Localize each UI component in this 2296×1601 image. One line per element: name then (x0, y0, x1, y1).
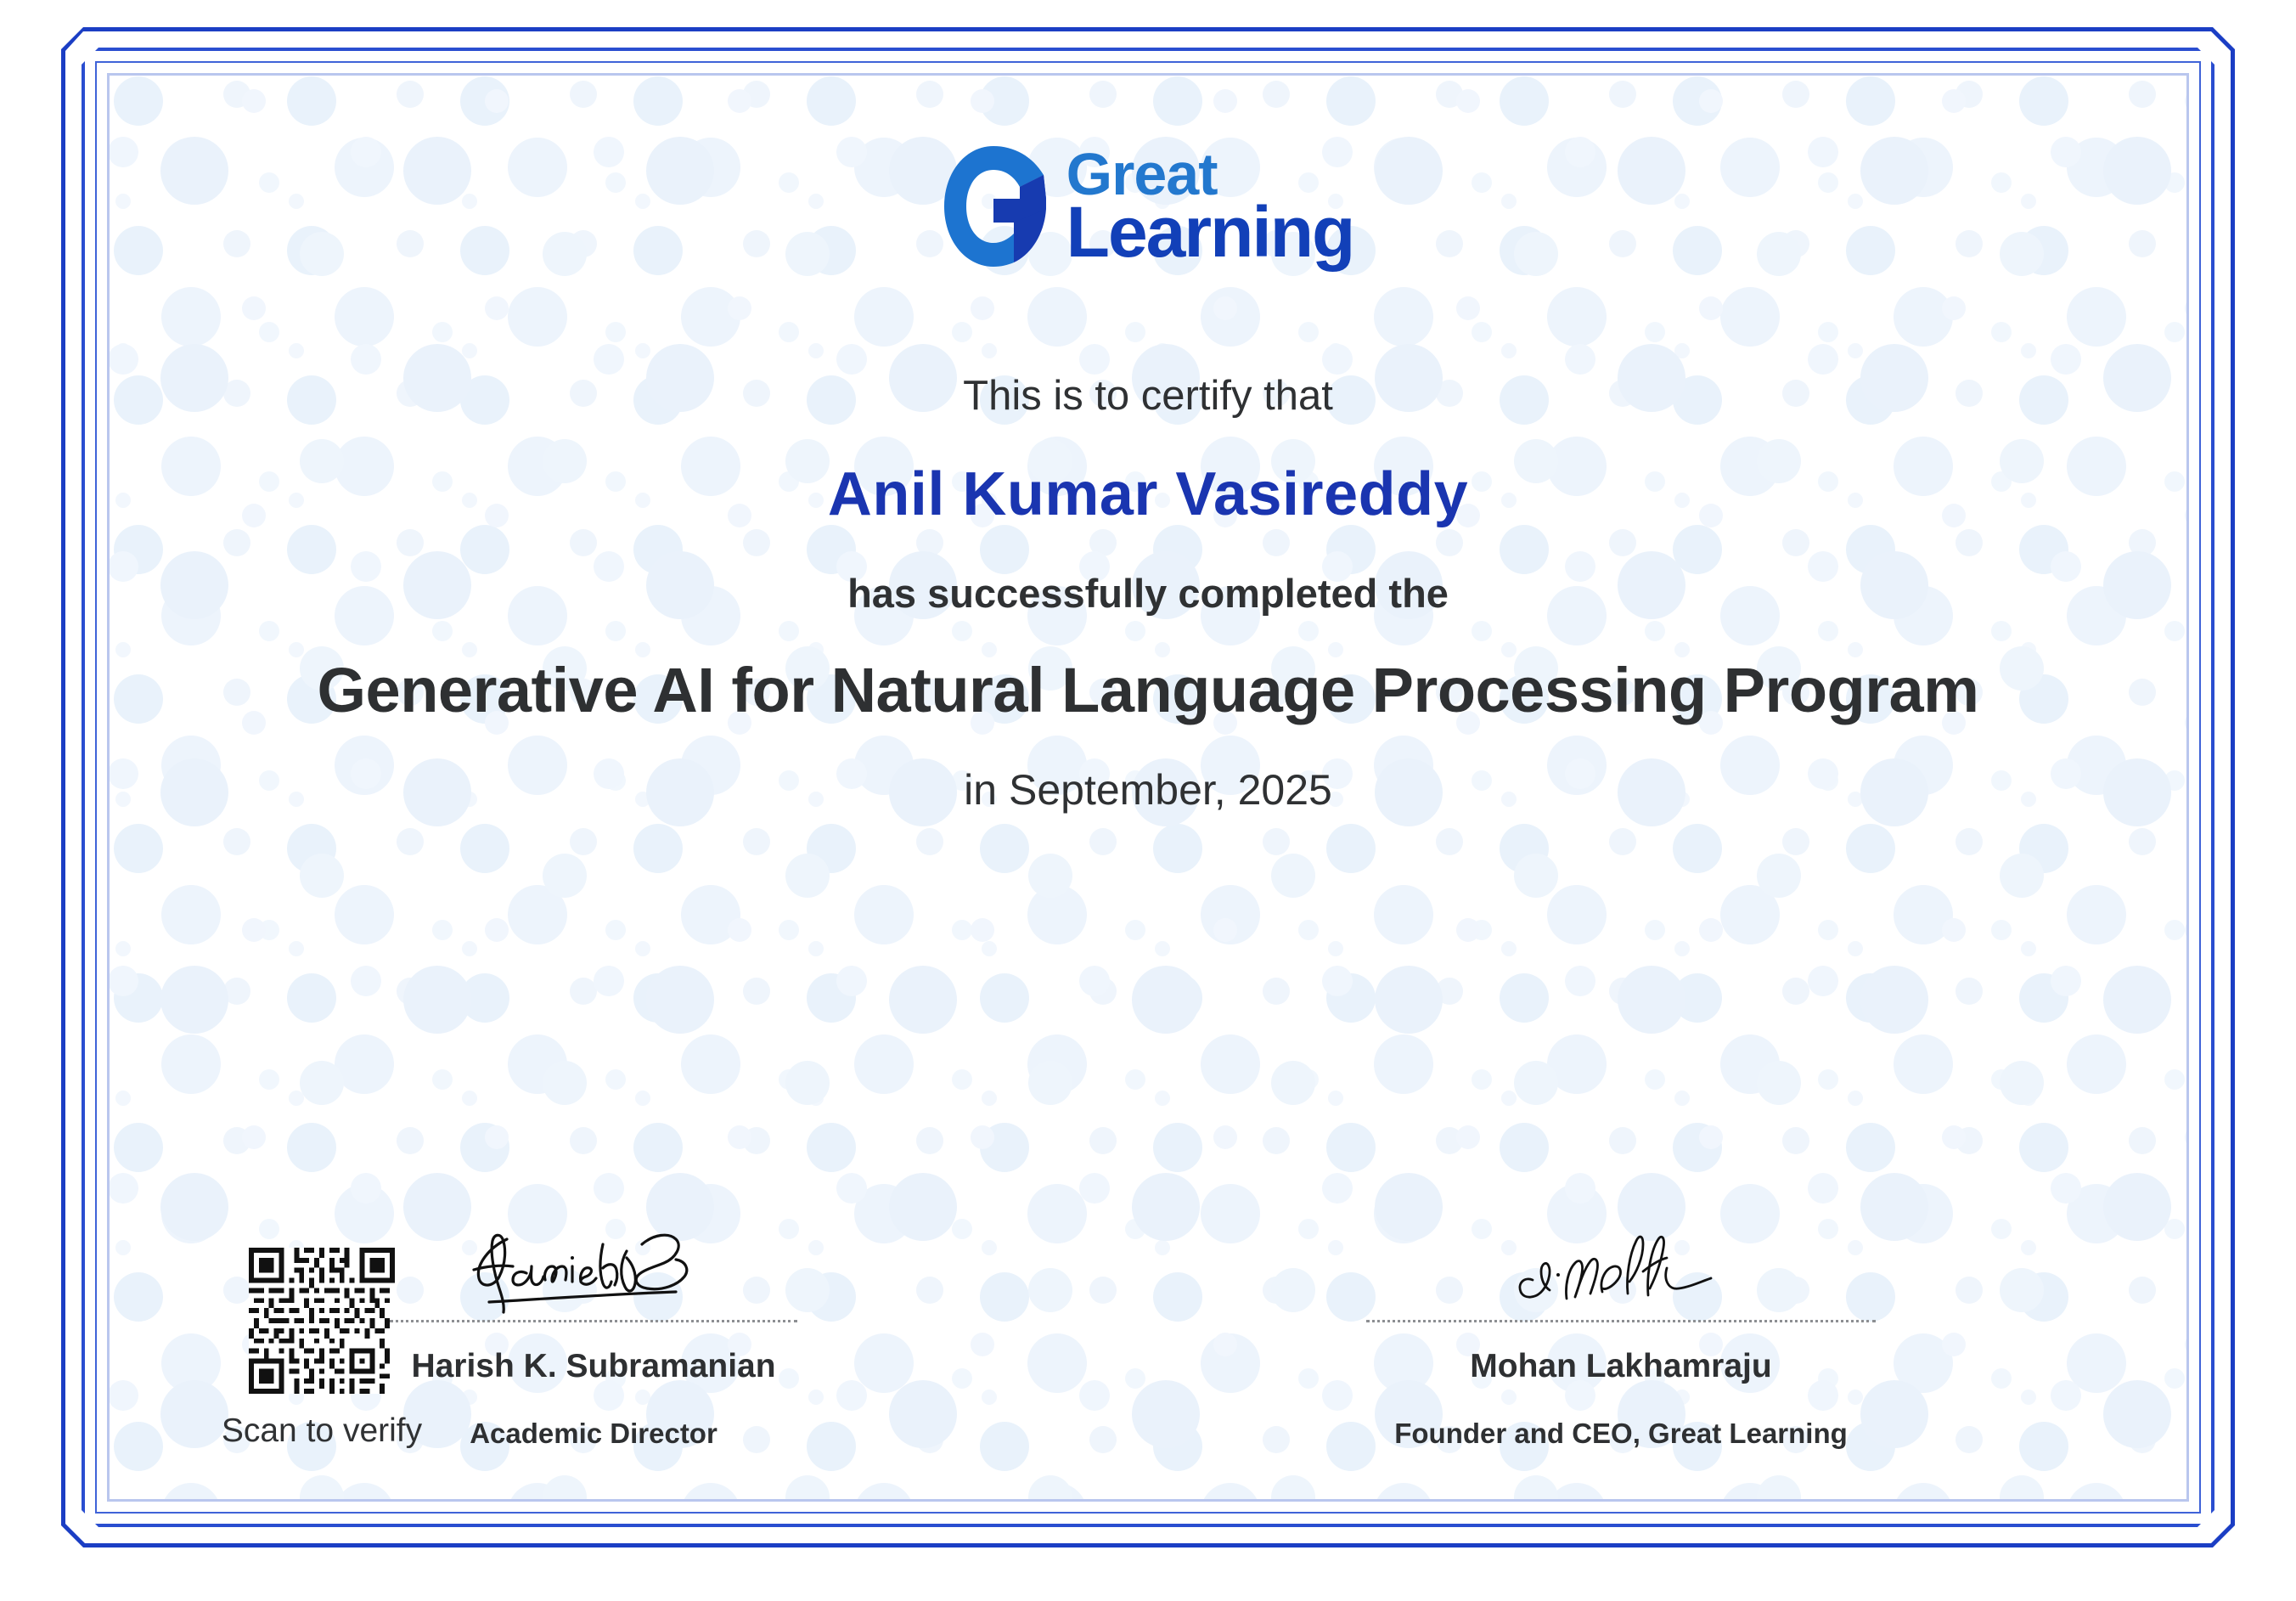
certificate-footer: Scan to verify (110, 1170, 2186, 1450)
handwritten-signature-mohan-icon (1494, 1220, 1748, 1318)
intro-line: This is to certify that (963, 372, 1333, 420)
certificate-canvas: Great Learning This is to certify that A… (110, 76, 2186, 1499)
recipient-name: Anil Kumar Vasireddy (828, 459, 1468, 529)
signatory-role: Academic Director (470, 1418, 717, 1450)
signature-rule (390, 1320, 797, 1322)
signature-rule (1366, 1320, 1876, 1322)
handwritten-signature-harish-icon (453, 1220, 734, 1318)
signatory-name: Mohan Lakhamraju (1470, 1348, 1771, 1385)
qr-code-icon[interactable] (249, 1248, 395, 1394)
completion-date: in September, 2025 (964, 765, 1332, 815)
certificate-page: Great Learning This is to certify that A… (0, 0, 2296, 1601)
signature-area (390, 1218, 797, 1318)
logo-word-learning: Learning (1066, 199, 1354, 265)
signatory-block-academic-director: Harish K. Subramanian Academic Director (390, 1218, 797, 1450)
brand-logo: Great Learning (943, 138, 1354, 274)
completion-line: has successfully completed the (847, 570, 1449, 617)
great-learning-g-mark-icon (943, 146, 1048, 267)
signatory-name: Harish K. Subramanian (411, 1348, 775, 1385)
signatory-role: Founder and CEO, Great Learning (1394, 1418, 1848, 1450)
program-title: Generative AI for Natural Language Proce… (267, 654, 2030, 726)
signatory-block-founder-ceo: Mohan Lakhamraju Founder and CEO, Great … (1366, 1218, 1876, 1450)
signature-area (1366, 1218, 1876, 1318)
certificate-content: Great Learning This is to certify that A… (110, 76, 2186, 1499)
